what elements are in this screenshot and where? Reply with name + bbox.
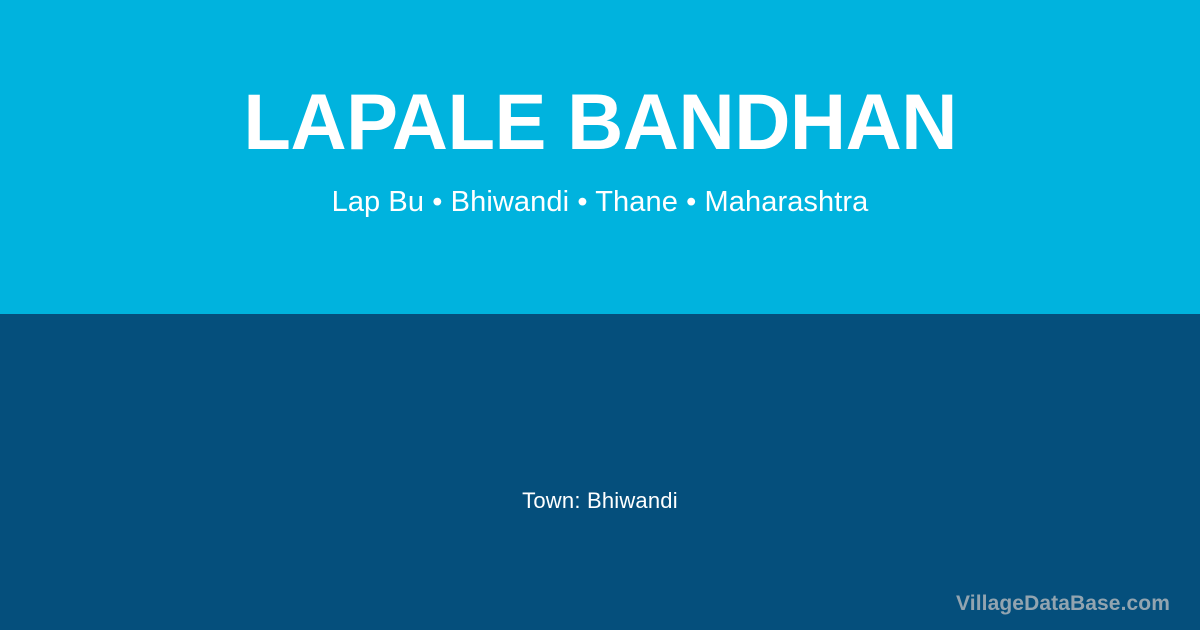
detail-town: Town: Bhiwandi bbox=[0, 487, 1200, 516]
site-watermark: VillageDataBase.com bbox=[956, 591, 1170, 616]
details-panel: Town: Bhiwandi VillageDataBase.com bbox=[0, 314, 1200, 630]
details-list: Town: Bhiwandi bbox=[0, 487, 1200, 516]
page-title: LAPALE BANDHAN bbox=[243, 82, 957, 161]
village-info-card: LAPALE BANDHAN Lap Bu • Bhiwandi • Thane… bbox=[0, 0, 1200, 630]
breadcrumb: Lap Bu • Bhiwandi • Thane • Maharashtra bbox=[332, 161, 869, 220]
hero-banner: LAPALE BANDHAN Lap Bu • Bhiwandi • Thane… bbox=[0, 0, 1200, 314]
